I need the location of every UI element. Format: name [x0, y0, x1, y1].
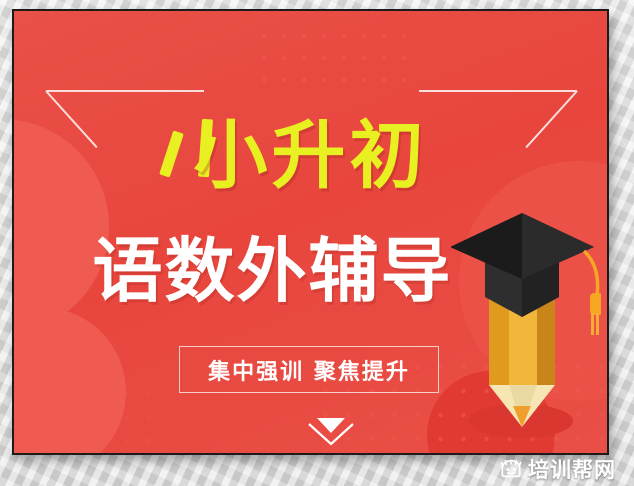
page-root: 小升初 语数外辅导 集中强训 聚焦提升: [0, 0, 634, 486]
dot-grid-top-icon: [254, 25, 410, 87]
smiling-sun-face-icon: [500, 458, 522, 480]
banner-slogan-box: 集中强训 聚焦提升: [179, 346, 439, 393]
watermark-text: 培训帮网: [528, 454, 616, 484]
dot-grid-left-icon: [50, 383, 170, 443]
promo-banner-card: 小升初 语数外辅导 集中强训 聚焦提升: [12, 9, 609, 455]
banner-slogan-text: 集中强训 聚焦提升: [208, 354, 410, 386]
pencil-graduation-cap-icon: [451, 199, 601, 449]
chevron-down-icon: [303, 410, 359, 450]
banner-title-main: 小升初: [14, 119, 607, 193]
watermark: 培训帮网: [494, 452, 622, 486]
